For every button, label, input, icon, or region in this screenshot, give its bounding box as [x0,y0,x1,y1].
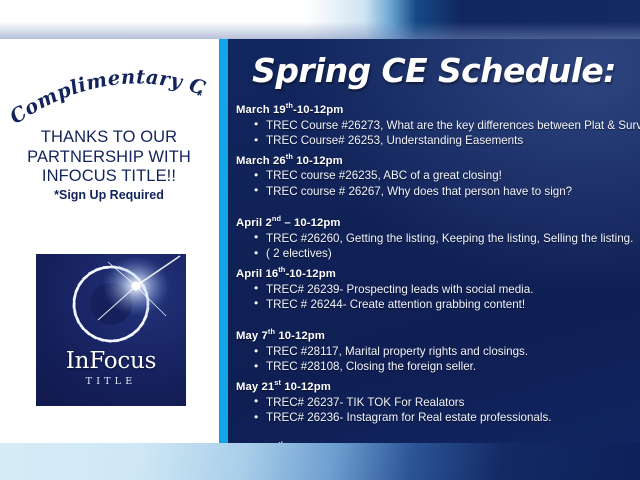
schedule-course-item: TREC #26260, Getting the listing, Keepin… [254,231,638,246]
schedule-date-heading: April 2nd – 10-12pm [236,211,638,231]
svg-text:Complimentary Class: Complimentary Class [6,65,209,129]
schedule-course-item: TREC # 26244- Create attention grabbing … [254,297,638,312]
thanks-message: THANKS TO OUR PARTNERSHIP WITH INFOCUS T… [8,128,210,187]
signup-required-note: *Sign Up Required [8,188,210,202]
schedule-date-time: 10-12pm [275,330,325,342]
left-panel: Complimentary Class * THANKS TO OUR PART… [0,39,218,444]
cyan-divider-stripe [219,39,228,444]
schedule-course-item: ( 2 electives) [254,246,638,261]
schedule-course-list: TREC Course #26273, What are the key dif… [254,118,638,149]
schedule-block: March 26th 10-12pmTREC course #26235, AB… [236,149,638,200]
arched-headline: Complimentary Class * [6,65,214,131]
schedule-course-item: TREC course #26235, ABC of a great closi… [254,168,638,183]
asterisk-marker: * [197,87,202,103]
poster-canvas: Complimentary Class * THANKS TO OUR PART… [0,0,640,480]
page-title: Spring CE Schedule: [228,51,640,90]
schedule-date-heading: March 19th-10-12pm [236,98,638,118]
schedule-date-text: March 19 [236,104,286,116]
top-band-shading [0,0,640,39]
schedule-date-text: April 16 [236,268,278,280]
schedule-block: April 2nd – 10-12pmTREC #26260, Getting … [236,211,638,262]
schedule-course-list: TREC# 26239- Prospecting leads with soci… [254,282,638,313]
schedule-date-ordinal: th [286,101,293,110]
schedule-block: May 21st 10-12pmTREC# 26237- TIK TOK For… [236,375,638,426]
bottom-gradient-band [0,443,640,480]
schedule-block: April 16th-10-12pmTREC# 26239- Prospecti… [236,262,638,313]
top-gradient-band [0,0,640,39]
schedule-course-item: TREC# 26236- Instagram for Real estate p… [254,410,638,425]
schedule-block: May 7th 10-12pmTREC #28117, Marital prop… [236,324,638,375]
arched-headline-text: Complimentary Class [6,65,209,129]
schedule-course-item: TREC #28108, Closing the foreign seller. [254,359,638,374]
schedule-date-ordinal: th [286,152,293,161]
schedule-date-text: May 7 [236,330,268,342]
logo-subtitle: TITLE [36,376,186,387]
schedule-date-time: 10-12pm [281,381,331,393]
schedule-course-list: TREC# 26237- TIK TOK For RealatorsTREC# … [254,395,638,426]
schedule-date-text: March 26 [236,154,286,166]
schedule-date-heading: April 16th-10-12pm [236,262,638,282]
logo-wordmark: InFocus [36,348,186,374]
right-panel: Spring CE Schedule: March 19th-10-12pmTR… [228,39,640,444]
schedule-course-item: TREC course # 26267, Why does that perso… [254,184,638,199]
schedule-date-text: April 2 [236,217,272,229]
schedule-date-text: May 21 [236,381,274,393]
schedule-course-list: TREC #28117, Marital property rights and… [254,344,638,375]
schedule-date-heading: March 26th 10-12pm [236,149,638,169]
infocus-title-logo: InFocus TITLE [36,254,186,406]
schedule-course-item: TREC Course# 26253, Understanding Easeme… [254,133,638,148]
schedule-course-item: TREC #28117, Marital property rights and… [254,344,638,359]
schedule-date-time: – 10-12pm [281,217,340,229]
schedule-date-time: -10-12pm [293,104,343,116]
schedule-date-ordinal: nd [272,214,281,223]
schedule-date-time: -10-12pm [285,268,335,280]
schedule-list: March 19th-10-12pmTREC Course #26273, Wh… [236,98,638,444]
schedule-course-item: TREC Course #26273, What are the key dif… [254,118,638,133]
schedule-course-item: TREC# 26237- TIK TOK For Realators [254,395,638,410]
schedule-course-list: TREC #26260, Getting the listing, Keepin… [254,231,638,262]
schedule-block: March 19th-10-12pmTREC Course #26273, Wh… [236,98,638,149]
schedule-date-time: 10-12pm [293,154,343,166]
schedule-date-heading: May 7th 10-12pm [236,324,638,344]
schedule-date-heading: May 21st 10-12pm [236,375,638,395]
schedule-course-list: TREC course #26235, ABC of a great closi… [254,168,638,199]
schedule-course-item: TREC# 26239- Prospecting leads with soci… [254,282,638,297]
